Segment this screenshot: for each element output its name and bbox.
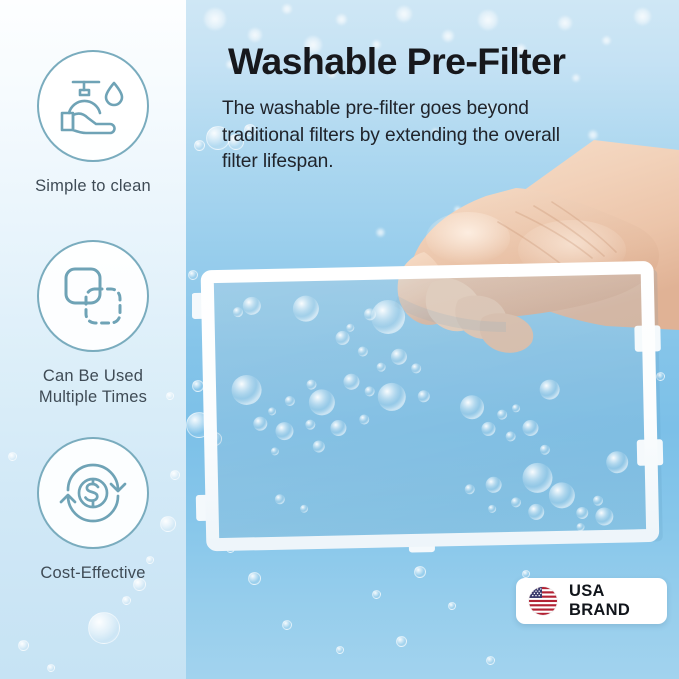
bubble-decoration <box>88 612 120 644</box>
bubble-decoration <box>122 596 131 605</box>
feature-icon-circle <box>37 50 149 162</box>
product-hero-panel: Washable Pre-Filter The washable pre-fil… <box>186 0 679 679</box>
hand-wash-faucet-icon <box>59 75 127 137</box>
feature-item-reusable: Can Be Used Multiple Times <box>0 240 186 408</box>
dollar-recycle-icon <box>59 460 127 526</box>
usa-brand-label: USA BRAND <box>569 582 667 620</box>
product-infographic: Simple to clean Can Be Used Multiple Tim… <box>0 0 679 679</box>
feature-label: Can Be Used Multiple Times <box>0 366 186 408</box>
usa-flag-icon <box>529 587 557 615</box>
duplicate-squares-icon <box>62 265 124 327</box>
feature-icon-circle <box>37 437 149 549</box>
feature-item-cost-effective: Cost-Effective <box>0 437 186 584</box>
feature-label: Simple to clean <box>0 176 186 197</box>
feature-item-simple-to-clean: Simple to clean <box>0 50 186 197</box>
feature-sidebar: Simple to clean Can Be Used Multiple Tim… <box>0 0 186 679</box>
feature-icon-circle <box>37 240 149 352</box>
usa-brand-badge: USA BRAND <box>516 578 667 624</box>
pre-filter-product <box>192 258 679 558</box>
bubble-decoration <box>47 664 55 672</box>
bubble-decoration <box>18 640 29 651</box>
feature-label: Cost-Effective <box>0 563 186 584</box>
